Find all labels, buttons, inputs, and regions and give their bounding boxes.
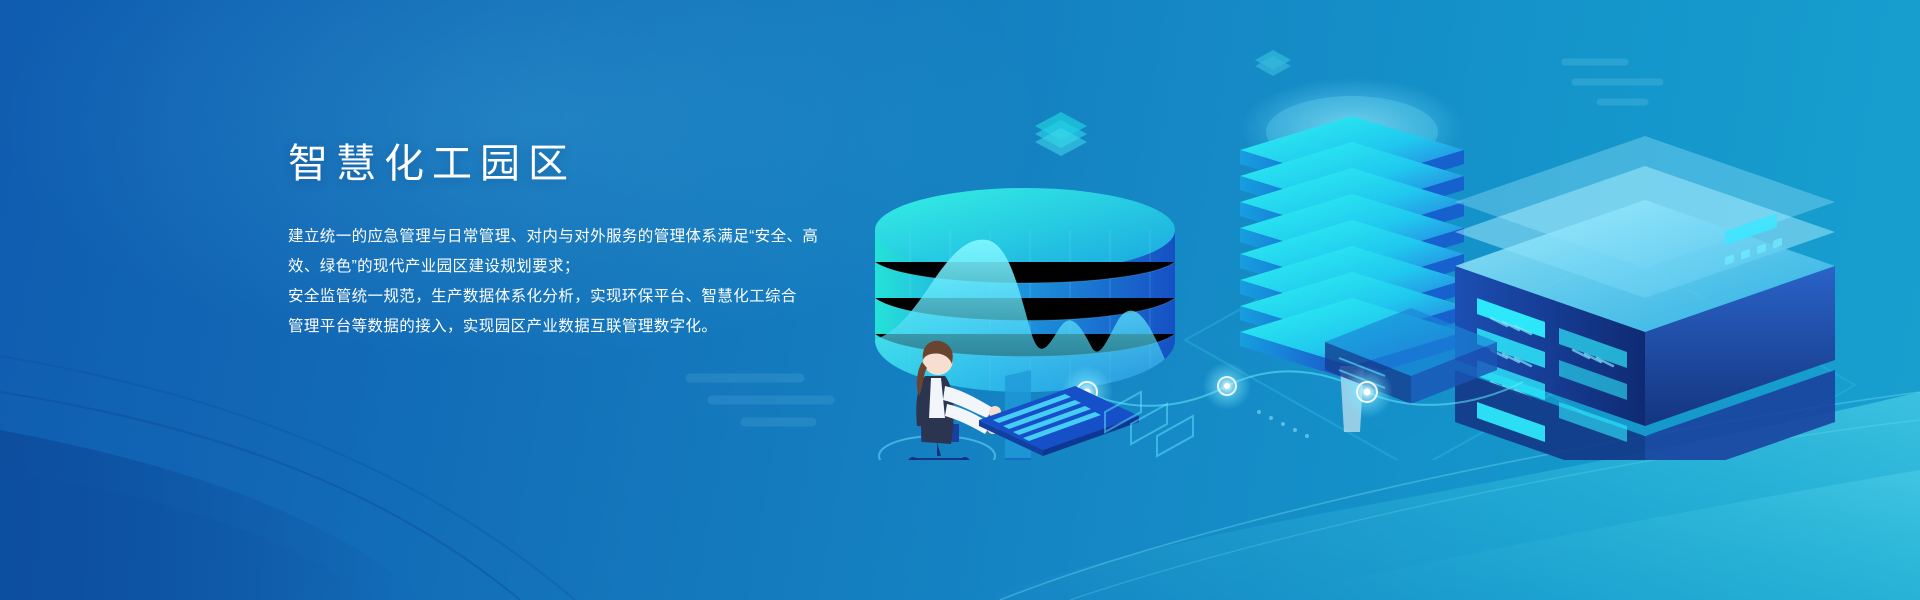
chevron-decoration: [1105, 392, 1193, 456]
description-line-1: 建立统一的应急管理与日常管理、对内与对外服务的管理体系满足“安全、高: [288, 222, 888, 252]
banner-text-block: 智慧化工园区 建立统一的应急管理与日常管理、对内与对外服务的管理体系满足“安全、…: [288, 140, 888, 342]
page-title: 智慧化工园区: [288, 140, 888, 188]
banner-description: 建立统一的应急管理与日常管理、对内与对外服务的管理体系满足“安全、高 效、绿色”…: [288, 222, 888, 342]
description-line-4: 管理平台等数据的接入，实现园区产业数据互联管理数字化。: [288, 312, 888, 342]
description-line-2: 效、绿色”的现代产业园区建设规划要求；: [288, 252, 888, 282]
description-line-3: 安全监管统一规范，生产数据体系化分析，实现环保平台、智慧化工综合: [288, 282, 888, 312]
dotted-trail: [1257, 410, 1309, 438]
hero-banner: 智慧化工园区 建立统一的应急管理与日常管理、对内与对外服务的管理体系满足“安全、…: [0, 0, 1920, 600]
server-rack-right-icon: [1455, 136, 1835, 460]
hero-illustration: [855, 40, 1920, 460]
